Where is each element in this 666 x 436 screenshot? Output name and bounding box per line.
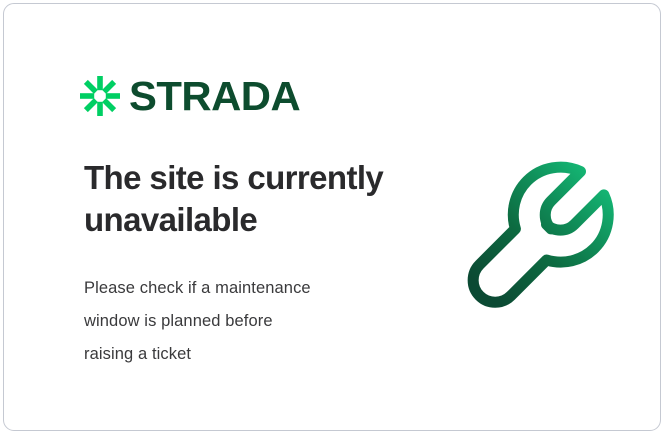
wrench-icon (459, 156, 615, 314)
page-root: STRADA The site is currently unavailable… (0, 0, 666, 436)
strada-starburst-icon (80, 76, 120, 116)
status-description-line: raising a ticket (84, 338, 404, 371)
status-description: Please check if a maintenance window is … (84, 272, 404, 371)
status-card: STRADA The site is currently unavailable… (3, 3, 661, 431)
brand-wordmark: STRADA (129, 76, 300, 117)
status-description-line: window is planned before (84, 305, 404, 338)
brand-lockup: STRADA (80, 70, 297, 122)
page-title: The site is currently unavailable (84, 157, 414, 240)
status-description-line: Please check if a maintenance (84, 272, 404, 305)
